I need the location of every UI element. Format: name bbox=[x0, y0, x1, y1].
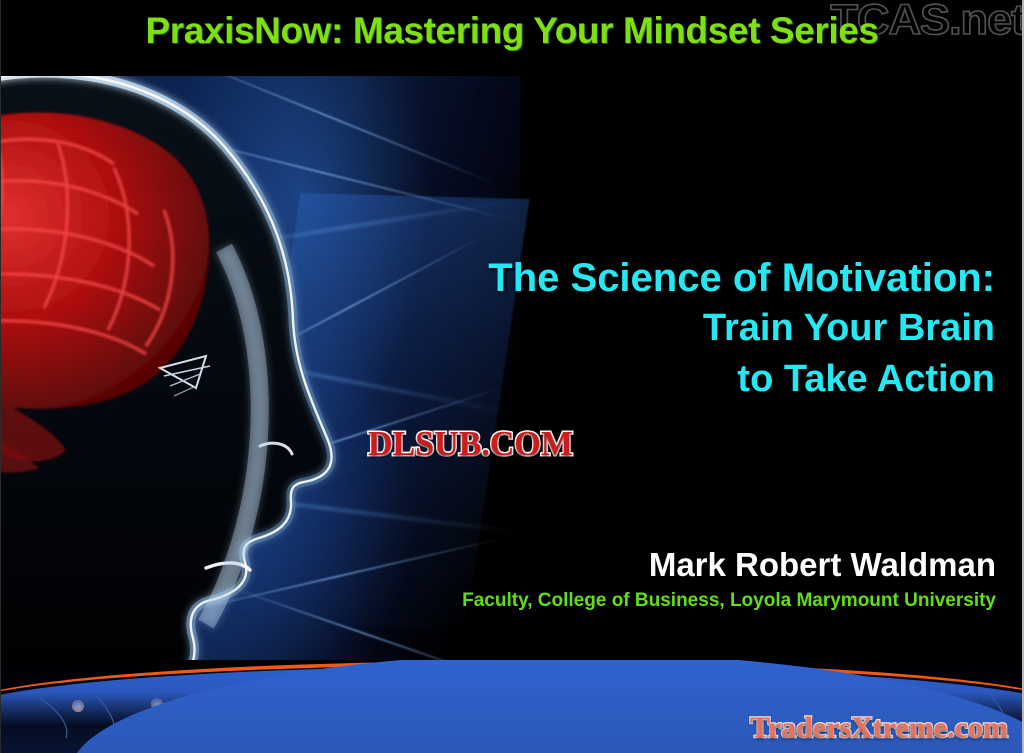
presentation-slide: TCAS.net PraxisNow: Mastering Your Minds… bbox=[0, 0, 1024, 753]
slide-title-block: The Science of Motivation: Train Your Br… bbox=[300, 258, 1000, 398]
title-line-3: to Take Action bbox=[300, 360, 1000, 398]
slide-footer: TradersXtreme.com bbox=[0, 660, 1024, 753]
dlsub-watermark-text: DLSUB.COM bbox=[368, 426, 573, 464]
dlsub-watermark: DLSUB.COM bbox=[368, 426, 573, 465]
slide-header-band: TCAS.net PraxisNow: Mastering Your Minds… bbox=[0, 0, 1024, 76]
head-brain-illustration bbox=[0, 76, 374, 728]
author-affiliation: Faculty, College of Business, Loyola Mar… bbox=[300, 590, 1000, 612]
title-line-1: The Science of Motivation: bbox=[300, 258, 1000, 298]
title-line-2: Train Your Brain bbox=[300, 309, 1000, 347]
author-block: Mark Robert Waldman Faculty, College of … bbox=[300, 546, 1000, 612]
author-name: Mark Robert Waldman bbox=[300, 546, 1000, 584]
series-title: PraxisNow: Mastering Your Mindset Series bbox=[0, 10, 1024, 52]
slide-artwork-area: The Science of Motivation: Train Your Br… bbox=[0, 76, 1024, 753]
tradersxtreme-watermark: TradersXtreme.com bbox=[750, 711, 1008, 745]
